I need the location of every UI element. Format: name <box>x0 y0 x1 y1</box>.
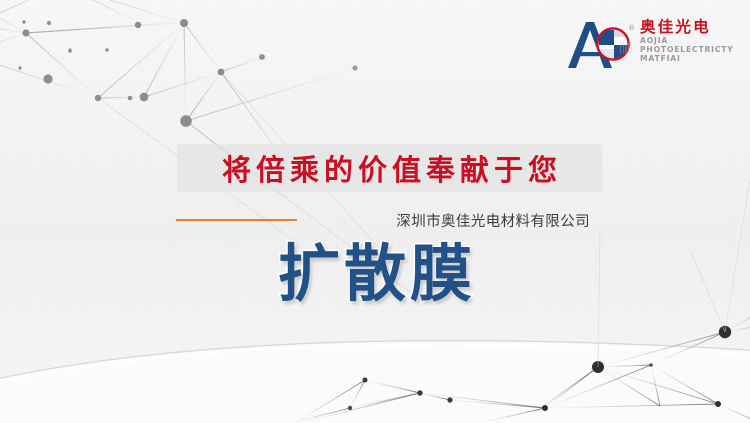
registered-trademark-icon: ® <box>628 24 635 32</box>
product-title: 扩散膜 <box>0 237 750 311</box>
logo-name-en-line1: AOJIA <box>640 36 734 45</box>
headline-slogan: 将倍乘的价值奉献于您 <box>177 144 602 192</box>
logo-name-cn: 奥佳光电 <box>640 19 734 36</box>
curved-sweep-arc <box>0 341 750 423</box>
network-dots-top <box>18 19 357 127</box>
orange-divider-rule <box>176 219 297 221</box>
logo-wordmark: 奥佳光电 AOJIA PHOTOELECTRICTY MATFIAI <box>640 16 734 64</box>
o-circle-glyph <box>597 28 629 60</box>
ao-monogram-icon: ® <box>566 16 638 72</box>
logo-name-en-line3: MATFIAI <box>640 54 734 63</box>
company-logo[interactable]: ® 奥佳光电 AOJIA PHOTOELECTRICTY MATFIAI <box>566 16 744 78</box>
poster-canvas: ® 奥佳光电 AOJIA PHOTOELECTRICTY MATFIAI 将倍乘… <box>0 0 750 423</box>
company-name: 深圳市奥佳光电材料有限公司 <box>396 210 590 231</box>
logo-name-en-line2: PHOTOELECTRICTY <box>640 45 734 54</box>
